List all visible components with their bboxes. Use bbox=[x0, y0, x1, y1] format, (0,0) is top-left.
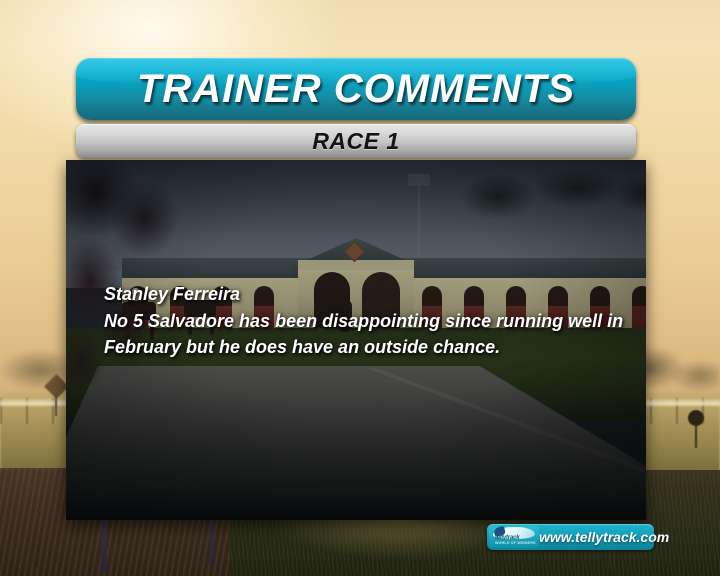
header-bar: TRAINER COMMENTS bbox=[76, 58, 636, 120]
website-url: www.tellytrack.com bbox=[539, 529, 673, 545]
round-sign-post bbox=[695, 424, 697, 448]
distance-marker-post bbox=[55, 394, 57, 416]
stable-photo-panel: Stanley Ferreira No 5 Salvadore has been… bbox=[66, 160, 646, 520]
page-title: TRAINER COMMENTS bbox=[137, 67, 575, 112]
logo-tagline: WORLD OF WINNERS bbox=[495, 542, 537, 546]
tellytrack-logo-icon: tellytrack WORLD OF WINNERS bbox=[489, 526, 539, 548]
comment-block: Stanley Ferreira No 5 Salvadore has been… bbox=[104, 284, 624, 360]
board-post-right bbox=[210, 516, 215, 564]
comment-line-2: February but he does have an outside cha… bbox=[104, 335, 624, 361]
comment-line-1: No 5 Salvadore has been disappointing si… bbox=[104, 309, 624, 335]
trainer-name: Stanley Ferreira bbox=[104, 284, 624, 305]
tellytrack-watermark: tellytrack WORLD OF WINNERS www.tellytra… bbox=[487, 524, 654, 550]
race-bar: RACE 1 bbox=[76, 124, 636, 158]
trainer-comments-panel: TRAINER COMMENTS RACE 1 bbox=[66, 58, 646, 520]
board-post-left bbox=[101, 516, 107, 572]
race-label: RACE 1 bbox=[312, 128, 399, 155]
